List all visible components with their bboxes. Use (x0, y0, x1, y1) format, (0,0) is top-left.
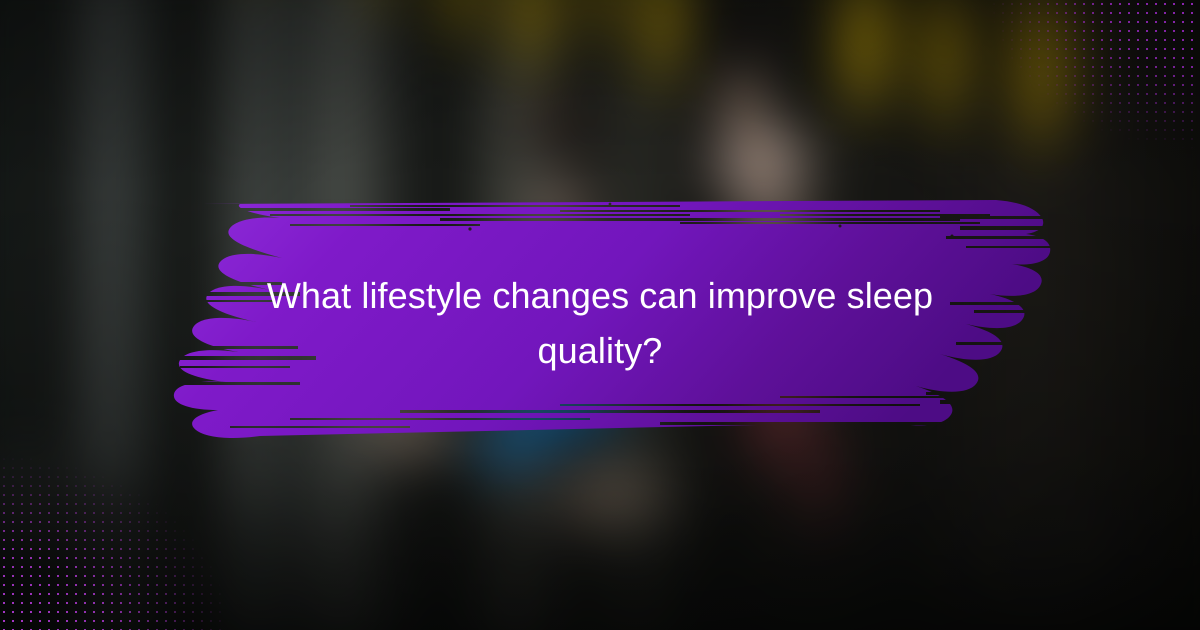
page-title: What lifestyle changes can improve sleep… (210, 268, 990, 378)
social-card-canvas: What lifestyle changes can improve sleep… (0, 0, 1200, 630)
